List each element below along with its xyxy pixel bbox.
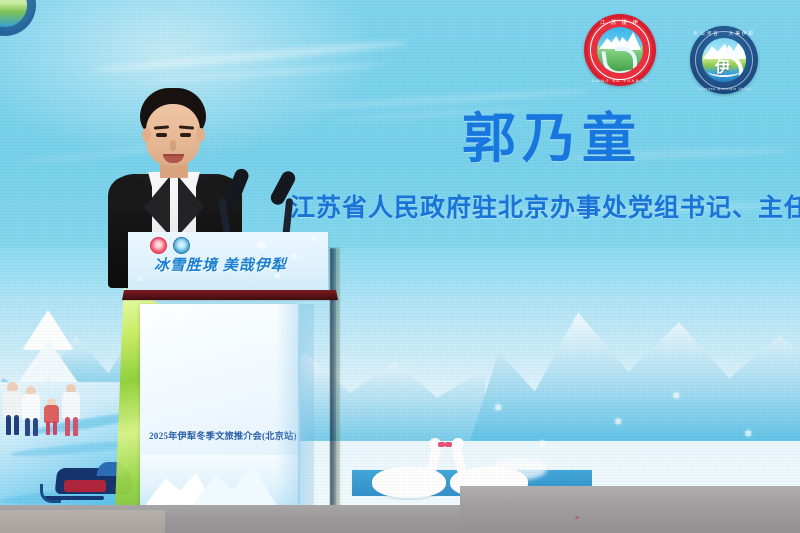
stage-floor-right xyxy=(460,486,800,533)
swan-beak-right xyxy=(445,442,452,447)
podium-subtitle: 2025年伊犁冬季文旅推介会(北京站) xyxy=(149,428,297,442)
snowflake-icon: ❄ xyxy=(538,440,546,450)
snowflake-icon: ❄ xyxy=(672,392,680,402)
podium: 冰雪胜境 美哉伊犁 ❄ ❄ ❄ ❄ ❄ 2025年伊犁冬季文旅推介会(北京站) xyxy=(128,232,333,533)
logo-pair: 江 苏 援 伊 JIANG SU YUAN YI 天山河谷 · 大美伊犁 Tia… xyxy=(584,14,784,90)
podium-front-panel: 2025年伊犁冬季文旅推介会(北京站) xyxy=(140,304,300,533)
logo-jiangsu-en-text: JIANG SU YUAN YI xyxy=(584,78,656,83)
swan-splash xyxy=(492,458,547,480)
snowflake-icon: ❄ xyxy=(310,234,318,245)
speaker-eye-left xyxy=(156,133,167,137)
podium-banner-title: 冰雪胜境 美哉伊犁 xyxy=(154,254,326,275)
backdrop-seam-glow xyxy=(336,248,341,506)
speaker-shoulder-left xyxy=(108,176,152,210)
logo-jiangsu-cn-text: 江 苏 援 伊 xyxy=(584,19,656,26)
swan-beak-left xyxy=(438,442,445,447)
speaker-ear-right xyxy=(196,128,205,142)
speaker-name: 郭乃童 xyxy=(462,112,642,166)
stage-floor-left xyxy=(0,510,165,533)
snowflake-icon: ❄ xyxy=(494,404,502,414)
logo-tianshan-emblem: 伊 xyxy=(702,38,746,82)
snowflake-icon: ❄ xyxy=(256,238,267,254)
snowflake-icon: ❄ xyxy=(614,418,622,428)
logo-tianshan-en-text: Tianshan Mountain Valley xyxy=(690,87,758,91)
speaker-eye-right xyxy=(180,133,191,137)
speaker-nose xyxy=(170,140,176,151)
logo-tianshan-valley: 天山河谷 · 大美伊犁 Tianshan Mountain Valley 伊 xyxy=(690,26,758,94)
swan-head-right xyxy=(452,438,464,449)
logo-jiangsu-emblem xyxy=(597,27,643,73)
speaker-ear-left xyxy=(142,128,151,142)
podium-mini-logos xyxy=(150,237,190,254)
mini-logo-tianshan xyxy=(173,237,190,254)
microphone-head xyxy=(268,169,297,207)
floor-marker xyxy=(575,516,579,519)
speaker-title: 江苏省人民政府驻北京办事处党组书记、主任 xyxy=(290,196,800,221)
snowflake-icon: ❄ xyxy=(136,274,144,285)
snowflake-icon: ❄ xyxy=(456,458,464,468)
snowflake-icon: ❄ xyxy=(744,430,752,440)
logo-jiangsu-yuanyi: 江 苏 援 伊 JIANG SU YUAN YI xyxy=(584,14,656,86)
logo-tianshan-cn-text: 天山河谷 · 大美伊犁 xyxy=(690,30,758,37)
podium-top-edge xyxy=(122,290,338,300)
podium-side-panel xyxy=(298,304,314,533)
mini-logo-jiangsu xyxy=(150,237,167,254)
screenshot-root: ❄ ❄ ❄ ❄ ❄ ❄ 江 苏 援 伊 JIANG SU YUAN YI 天山河… xyxy=(0,0,800,533)
podium-illustration-mountain xyxy=(192,465,278,507)
podium-banner: 冰雪胜境 美哉伊犁 ❄ ❄ ❄ ❄ ❄ xyxy=(128,232,328,292)
